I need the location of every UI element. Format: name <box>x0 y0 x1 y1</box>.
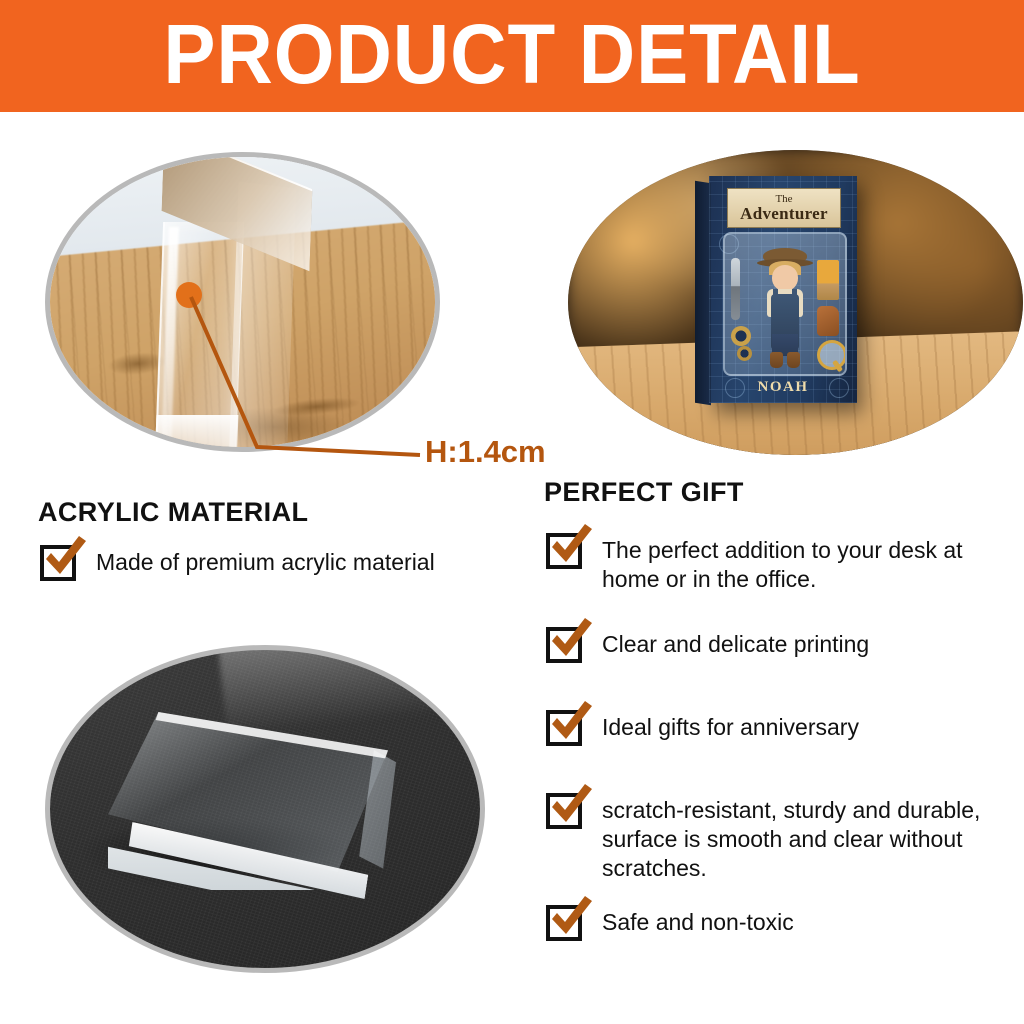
edge-photo-scene <box>50 157 435 447</box>
acrylic-slab <box>155 167 283 452</box>
package-blister-window <box>723 232 847 376</box>
feature-label: Ideal gifts for anniversary <box>602 705 859 742</box>
check-icon <box>39 534 89 584</box>
package-photo-scene: The Adventurer <box>568 150 1023 455</box>
work-glove-accessory <box>817 306 839 336</box>
feature-item: Made of premium acrylic material <box>40 540 510 582</box>
package-title-banner: The Adventurer <box>727 188 841 228</box>
check-icon <box>545 522 595 572</box>
section-heading-perfect-gift: PERFECT GIFT <box>544 477 744 508</box>
boy-figure <box>757 248 813 372</box>
package-title-line-2: Adventurer <box>740 205 828 222</box>
feature-item: Safe and non-toxic <box>546 900 998 942</box>
feature-label: The perfect addition to your desk at hom… <box>602 528 998 594</box>
page-title: PRODUCT DETAIL <box>36 0 988 112</box>
feature-item: Ideal gifts for anniversary <box>546 705 998 747</box>
checkbox-checked <box>546 622 588 664</box>
acrylic-edge-photo <box>45 152 440 452</box>
check-icon <box>545 616 595 666</box>
gear-accessory <box>737 346 752 361</box>
figure-head <box>772 265 798 291</box>
thickness-callout-dot <box>176 282 202 308</box>
checkbox-checked <box>546 900 588 942</box>
product-package-photo: The Adventurer <box>568 150 1023 455</box>
check-icon <box>545 699 595 749</box>
checkbox-checked <box>546 705 588 747</box>
feature-item: The perfect addition to your desk at hom… <box>546 528 998 594</box>
checkbox-checked <box>546 788 588 830</box>
gear-accessory <box>731 326 751 346</box>
slate-background <box>50 650 480 968</box>
clear-acrylic-block <box>108 712 388 912</box>
pencils-accessory <box>817 260 839 300</box>
figure-boot <box>770 352 783 368</box>
pocket-knife-accessory <box>731 258 740 320</box>
feature-label: Made of premium acrylic material <box>96 540 435 577</box>
magnifier-accessory <box>817 340 847 370</box>
page-header-banner: PRODUCT DETAIL <box>0 0 1024 112</box>
checkbox-checked <box>40 540 82 582</box>
acrylic-block-photo <box>45 645 485 973</box>
check-icon <box>545 782 595 832</box>
action-figure-package: The Adventurer <box>709 176 857 403</box>
feature-item: Clear and delicate printing <box>546 622 998 664</box>
thickness-label: H:1.4cm <box>425 434 546 470</box>
check-icon <box>545 894 595 944</box>
feature-label: Safe and non-toxic <box>602 900 794 937</box>
feature-item: scratch-resistant, sturdy and durable, s… <box>546 788 1006 883</box>
checkbox-checked <box>546 528 588 570</box>
feature-label: Clear and delicate printing <box>602 622 869 659</box>
section-heading-acrylic-material: ACRYLIC MATERIAL <box>38 497 308 528</box>
package-name-plate: NOAH <box>723 376 843 398</box>
figure-boot <box>787 352 800 368</box>
feature-label: scratch-resistant, sturdy and durable, s… <box>602 788 1006 883</box>
